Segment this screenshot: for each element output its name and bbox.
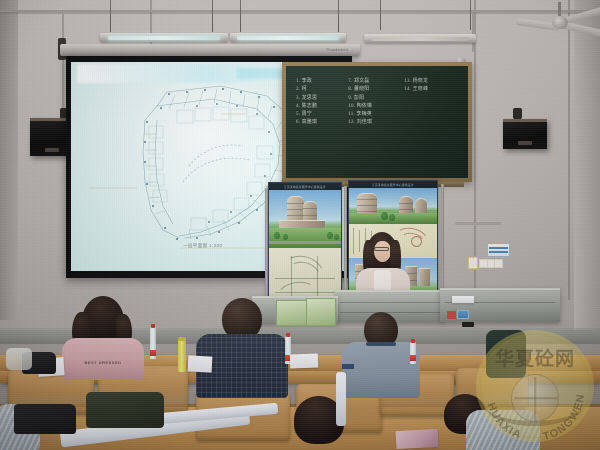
light-hanger-wire <box>212 0 213 32</box>
architectural-model-box <box>306 298 336 326</box>
floor-plan-scale-note: 一层平面图 1:200 <box>183 243 222 249</box>
speaker-logo <box>518 141 532 145</box>
wall-conduit <box>62 12 64 122</box>
tee-collar-trim <box>366 342 396 346</box>
ceiling-fan <box>486 2 600 48</box>
water-bottle[interactable] <box>410 342 416 364</box>
presenter-face <box>374 241 391 262</box>
bottle-label <box>410 355 416 361</box>
thermos-lid <box>178 337 186 341</box>
hoodie-print-text: BEST DRESSED <box>84 360 121 365</box>
light-hanger-wire <box>338 0 339 32</box>
wall-rail <box>455 222 501 225</box>
switch-toggle[interactable] <box>495 260 502 267</box>
site-tree <box>334 234 339 240</box>
blackboard-line: 10. 陶依琳 <box>348 103 400 111</box>
jacket-on-desk[interactable] <box>86 392 164 428</box>
light-switch-plate[interactable] <box>478 258 504 269</box>
eyeglasses <box>374 247 389 251</box>
blackboard-line: 9. 彭阳 <box>348 95 400 103</box>
blackboard-line: 3. 龙思思 <box>296 95 344 103</box>
blackboard-line: 4. 陈志鹏 <box>296 103 344 111</box>
outlet-socket[interactable] <box>469 258 477 268</box>
fluorescent-light-1 <box>100 33 228 42</box>
bottle-label <box>150 350 156 356</box>
light-glow <box>237 36 339 40</box>
switch-toggle[interactable] <box>488 260 495 267</box>
light-hanger-wire <box>240 0 241 32</box>
light-glow <box>371 37 470 41</box>
blue-box-prop <box>457 310 469 319</box>
poster-header: 江苏某地商业服务中心建筑设计 <box>269 183 341 190</box>
bottle-cap <box>151 324 155 328</box>
poster-building-rendering <box>269 190 341 248</box>
poster-stand-leg <box>265 188 268 308</box>
switch-toggle[interactable] <box>480 260 487 267</box>
presentation-poster-left: 江苏某地商业服务中心建筑设计 <box>268 182 342 310</box>
site-tree <box>274 232 280 239</box>
blackboard-line: 1. 李政 <box>296 78 344 86</box>
site-tree <box>283 234 288 240</box>
wall-speaker-right <box>503 119 547 149</box>
student-silver-jacket <box>444 400 540 450</box>
tee-sleeve-trim <box>342 364 354 369</box>
blackboard: 1. 李政 2. 柯 3. 龙思思 4. 陈志鹏 5. 周宁 6. 高雅琪 7.… <box>282 62 472 182</box>
podium-panel-line <box>340 302 439 303</box>
rolled-drawing-vertical[interactable] <box>336 372 346 426</box>
fan-hub <box>552 16 568 29</box>
light-hanger-wire <box>470 0 471 30</box>
site-road <box>269 241 341 244</box>
blackboard-column-3: 13. 杨晓龙 14. 王晓峰 <box>404 78 460 170</box>
plastic-bag <box>6 348 32 370</box>
notebook-paper[interactable] <box>188 355 213 372</box>
bottle-cap <box>411 339 415 343</box>
fluorescent-light-2 <box>230 33 346 42</box>
light-hanger-wire <box>110 0 111 32</box>
building-tower <box>357 193 377 215</box>
student-grey-tee <box>342 312 420 396</box>
poster-header: 江苏某地商业服务中心建筑设计 <box>349 181 437 188</box>
yellow-thermos[interactable] <box>178 340 186 372</box>
site-tree <box>389 214 395 221</box>
blackboard-line: 7. 郑文磊 <box>348 78 400 86</box>
blackboard-surface: 1. 李政 2. 柯 3. 龙思思 4. 陈志鹏 5. 周宁 6. 高雅琪 7.… <box>286 66 468 178</box>
fluorescent-light-3 <box>364 34 476 43</box>
wall-notice-card <box>487 243 510 257</box>
blackboard-column-2: 7. 郑文磊 8. 董晓阳 9. 彭阳 10. 陶依琳 11. 李梅英 12. … <box>348 78 400 170</box>
mobile-phone <box>462 322 474 327</box>
blackboard-line: 6. 高雅琪 <box>296 119 344 127</box>
blackboard-line: 5. 周宁 <box>296 111 344 119</box>
poster-header-text: 江苏某地商业服务中心建筑设计 <box>372 183 414 187</box>
notice-bar <box>489 247 508 249</box>
poster-building-rendering <box>349 188 437 224</box>
wall-conduit <box>472 12 474 52</box>
red-box-prop <box>447 311 456 319</box>
classroom-photo: Thunderbolt <box>0 0 600 450</box>
speaker-logo <box>45 148 59 152</box>
blackboard-line: 12. 刘佳琪 <box>348 119 400 127</box>
poster-header-text: 江苏某地商业服务中心建筑设计 <box>284 185 326 189</box>
backpack[interactable] <box>486 330 526 378</box>
roller-brand-label: Thunderbolt <box>326 48 348 52</box>
blackboard-line: 13. 杨晓龙 <box>404 78 460 86</box>
site-tree <box>327 232 333 239</box>
blackboard-line: 11. 李梅英 <box>348 111 400 119</box>
blackboard-line: 2. 柯 <box>296 86 344 94</box>
student-grey-top <box>342 342 420 398</box>
blackboard-list: 1. 李政 2. 柯 3. 龙思思 4. 陈志鹏 5. 周宁 6. 高雅琪 7.… <box>286 66 468 178</box>
power-outlet-plate[interactable] <box>467 256 479 270</box>
notebook-paper[interactable] <box>290 354 318 369</box>
printed-photo-card[interactable] <box>396 429 439 449</box>
projection-screen-roller[interactable]: Thunderbolt <box>60 44 360 56</box>
laptop-bag[interactable] <box>14 404 76 434</box>
blackboard-column-1: 1. 李政 2. 柯 3. 龙思思 4. 陈志鹏 5. 周宁 6. 高雅琪 <box>296 78 344 170</box>
wall-seam <box>474 0 476 300</box>
site-tree <box>381 212 388 220</box>
bottle-cap <box>286 333 290 337</box>
blackboard-line: 8. 董晓阳 <box>348 86 400 94</box>
wall-right-return <box>574 0 600 330</box>
speaker-bracket <box>513 108 522 119</box>
plan-line <box>275 278 335 279</box>
student-hoodie: BEST DRESSED <box>62 338 144 380</box>
paper-stack <box>452 296 474 303</box>
blackboard-line: 14. 王晓峰 <box>404 86 460 94</box>
elevation-building <box>419 268 430 286</box>
water-bottle[interactable] <box>150 327 156 359</box>
student-plaid-shirt <box>196 298 288 398</box>
notice-bar <box>489 251 508 253</box>
student-silver-top <box>466 410 540 450</box>
light-hanger-wire <box>380 0 381 30</box>
student-pink-hoodie: BEST DRESSED <box>60 296 146 378</box>
light-glow <box>108 36 221 40</box>
wall-left-return <box>0 0 18 320</box>
